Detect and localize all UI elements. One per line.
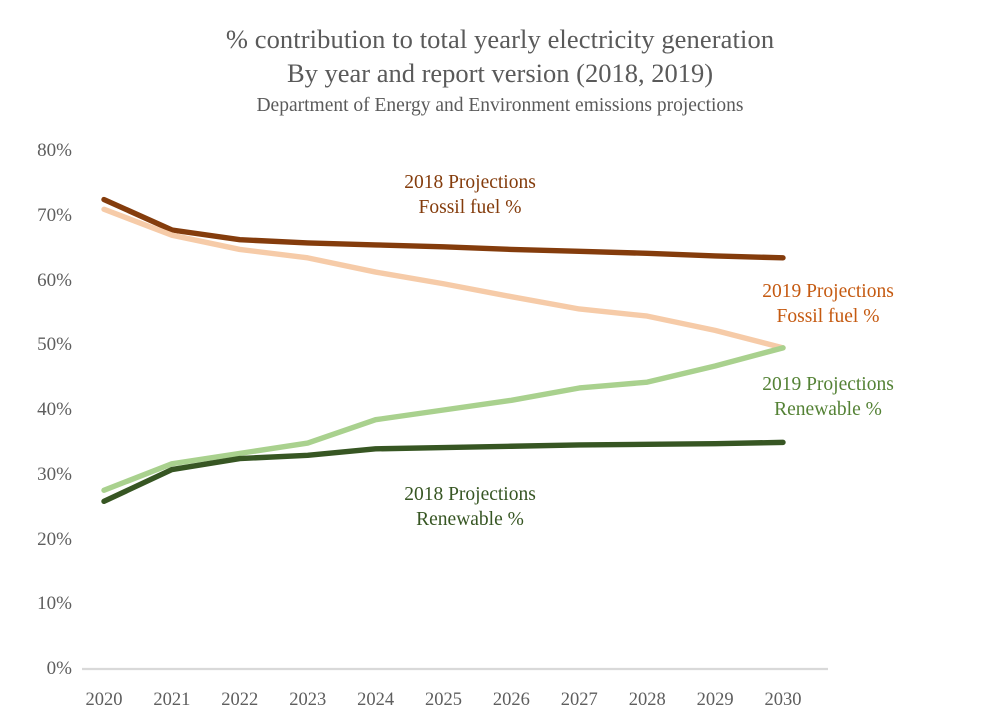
annotation-line-1: 2018 Projections: [340, 170, 600, 195]
annotation-line-2: Fossil fuel %: [698, 304, 958, 329]
annotation-line-1: 2018 Projections: [340, 482, 600, 507]
annotation-line-1: 2019 Projections: [698, 279, 958, 304]
chart-container: % contribution to total yearly electrici…: [0, 0, 1000, 728]
annotation-line-2: Fossil fuel %: [340, 195, 600, 220]
annotation-line-2: Renewable %: [340, 507, 600, 532]
series-annotation-2019-renewable: 2019 Projections Renewable %: [698, 372, 958, 422]
series-annotation-2018-fossil: 2018 Projections Fossil fuel %: [340, 170, 600, 220]
x-axis-ticks: 2020202120222023202420252026202720282029…: [0, 0, 1000, 728]
series-annotation-2019-fossil: 2019 Projections Fossil fuel %: [698, 279, 958, 329]
annotation-line-1: 2019 Projections: [698, 372, 958, 397]
series-annotation-2018-renewable: 2018 Projections Renewable %: [340, 482, 600, 532]
x-tick-label: 2030: [743, 690, 823, 710]
annotation-line-2: Renewable %: [698, 397, 958, 422]
